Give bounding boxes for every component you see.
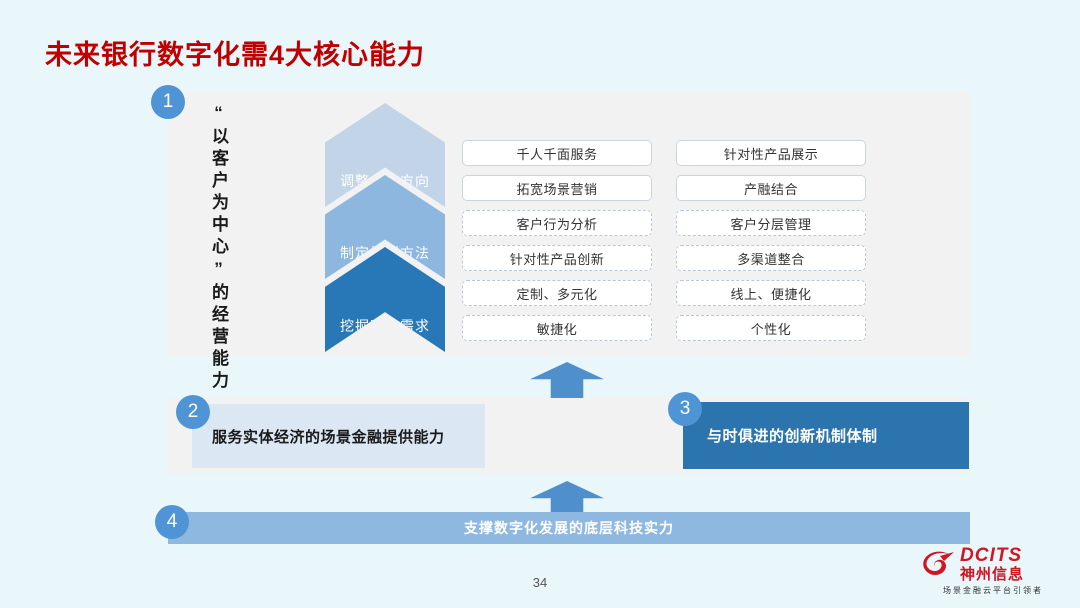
pill-item[interactable]: 针对性产品创新 [462, 245, 652, 271]
logo-wordmark: DCITS 神州信息 [960, 546, 1024, 582]
pill-item[interactable]: 线上、便捷化 [676, 280, 866, 306]
swirl-logo-icon [920, 548, 956, 580]
logo-row: DCITS 神州信息 [920, 546, 1066, 582]
badge-3: 3 [668, 392, 702, 426]
up-arrow-icon [530, 362, 604, 398]
capability-box-2[interactable]: 服务实体经济的场景金融提供能力 [192, 404, 485, 468]
logo-cn-text: 神州信息 [960, 567, 1024, 582]
pill-column-left: 千人千面服务 拓宽场景营销 客户行为分析 针对性产品创新 定制、多元化 敏捷化 [462, 140, 652, 341]
capability-box-3[interactable]: 与时俱进的创新机制体制 [683, 402, 969, 469]
badge-1: 1 [151, 85, 185, 119]
pill-column-right: 针对性产品展示 产融结合 客户分层管理 多渠道整合 线上、便捷化 个性化 [676, 140, 866, 341]
vertical-headline: “以客户为中心”的经营能力 [196, 103, 240, 348]
logo-tagline: 场景金融云平台引领者 [920, 585, 1066, 596]
pill-item[interactable]: 客户分层管理 [676, 210, 866, 236]
pill-item[interactable]: 拓宽场景营销 [462, 175, 652, 201]
pill-item[interactable]: 针对性产品展示 [676, 140, 866, 166]
pill-item[interactable]: 千人千面服务 [462, 140, 652, 166]
pill-item[interactable]: 产融结合 [676, 175, 866, 201]
company-logo: DCITS 神州信息 场景金融云平台引领者 [920, 546, 1066, 598]
logo-en-text: DCITS [960, 546, 1024, 565]
capability-bar-4[interactable]: 支撑数字化发展的底层科技实力 [168, 512, 970, 544]
pill-item[interactable]: 多渠道整合 [676, 245, 866, 271]
slide-root: 未来银行数字化需4大核心能力 1 “以客户为中心”的经营能力 调整业务方向 制定… [0, 0, 1080, 608]
pill-item[interactable]: 客户行为分析 [462, 210, 652, 236]
badge-4: 4 [155, 505, 189, 539]
pill-item[interactable]: 定制、多元化 [462, 280, 652, 306]
pill-item[interactable]: 敏捷化 [462, 315, 652, 341]
chevron-stack: 调整业务方向 制定执行方法 挖掘客户需求 [325, 103, 445, 349]
page-number: 34 [0, 575, 1080, 590]
badge-2: 2 [176, 395, 210, 429]
pill-item[interactable]: 个性化 [676, 315, 866, 341]
page-title: 未来银行数字化需4大核心能力 [45, 33, 425, 72]
